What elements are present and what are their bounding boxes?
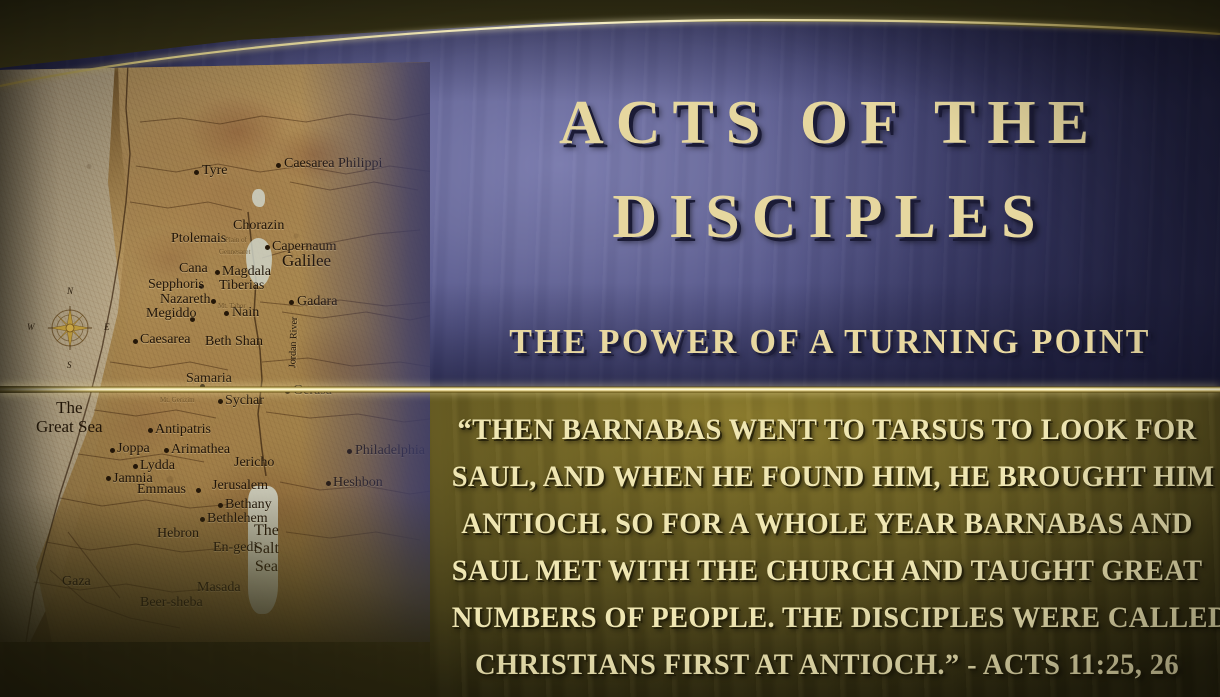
- map-city-dot: [276, 163, 281, 168]
- map-city-label: Tyre: [202, 163, 227, 179]
- map-region-label: Galilee: [282, 251, 331, 271]
- map-city-label: Antipatris: [155, 422, 211, 438]
- map-city-dot: [148, 428, 153, 433]
- map-city-label: Cana: [179, 261, 208, 277]
- map-sea-label: The Great Sea: [36, 398, 103, 436]
- compass-south-label: S: [67, 360, 72, 370]
- map-city-label: Beer-sheba: [140, 595, 203, 611]
- compass-west-label: W: [27, 322, 35, 332]
- map-city-dot: [200, 517, 205, 522]
- map-city-label: Ptolemais: [171, 231, 226, 247]
- map-region-label: Mt. Gerizim: [160, 396, 195, 404]
- holy-land-map: N S W E TyreCaesarea PhilippiChorazinPto…: [0, 62, 430, 697]
- map-city-label: En-gedi: [213, 540, 257, 556]
- map-lake-huleh: [252, 189, 265, 207]
- map-city-dot: [289, 300, 294, 305]
- map-city-dot: [218, 503, 223, 508]
- map-city-dot: [194, 170, 199, 175]
- map-city-label: Beth Shan: [205, 334, 263, 350]
- compass-east-label: E: [104, 322, 110, 332]
- map-city-dot: [133, 464, 138, 469]
- map-city-label: Sepphoris: [148, 277, 204, 293]
- map-city-label: Sychar: [225, 393, 264, 409]
- quote-line: SAUL, AND WHEN HE FOUND HIM, HE BROUGHT …: [452, 453, 1203, 500]
- map-city-dot: [106, 476, 111, 481]
- quote-line: SAUL MET WITH THE CHURCH AND TAUGHT GREA…: [452, 547, 1203, 594]
- map-city-dot: [133, 339, 138, 344]
- map-city-label: Caesarea Philippi: [284, 156, 382, 172]
- map-city-dot: [196, 488, 201, 493]
- map-city-label: Caesarea: [140, 332, 191, 348]
- title-line-1: ACTS OF THE: [440, 92, 1220, 154]
- gold-divider-left-shadow: [0, 386, 90, 393]
- quote-line: NUMBERS OF PEOPLE. THE DISCIPLES WERE CA…: [452, 594, 1203, 641]
- map-city-label: Philadelphia: [355, 443, 425, 459]
- map-city-dot: [347, 449, 352, 454]
- map-region-label: Plain of: [225, 236, 247, 244]
- title-block: ACTS OF THE DISCIPLES: [440, 92, 1220, 248]
- map-city-dot: [211, 299, 216, 304]
- map-region-label: Mt. Tabor: [218, 302, 246, 310]
- map-city-dot: [326, 481, 331, 486]
- quote-line: “THEN BARNABAS WENT TO TARSUS TO LOOK FO…: [452, 406, 1203, 453]
- map-city-label: Heshbon: [333, 475, 383, 491]
- map-city-label: Jericho: [234, 455, 274, 471]
- map-city-label: Hebron: [157, 526, 199, 542]
- map-city-label: Gaza: [62, 574, 91, 590]
- map-region-label: Gennesaret: [219, 248, 250, 256]
- map-city-dot: [218, 399, 223, 404]
- map-city-dot: [215, 270, 220, 275]
- map-city-label: Joppa: [117, 441, 150, 457]
- compass-rose: N S W E: [42, 300, 98, 356]
- compass-north-label: N: [67, 286, 73, 296]
- map-city-label: Gadara: [297, 294, 337, 310]
- map-city-dot: [164, 448, 169, 453]
- map-city-dot: [224, 311, 229, 316]
- map-city-label: Emmaus: [137, 482, 186, 498]
- title-line-2: DISCIPLES: [440, 186, 1220, 248]
- map-city-dot: [265, 245, 270, 250]
- map-sea-label: The Salt Sea: [254, 522, 279, 576]
- slide-canvas: N S W E TyreCaesarea PhilippiChorazinPto…: [0, 0, 1220, 697]
- map-city-label: Jerusalem: [212, 478, 268, 494]
- subtitle: THE POWER OF A TURNING POINT: [452, 322, 1209, 362]
- quote-line: CHRISTIANS FIRST AT ANTIOCH.” - ACTS 11:…: [452, 641, 1203, 688]
- scripture-quote: “THEN BARNABAS WENT TO TARSUS TO LOOK FO…: [452, 406, 1203, 688]
- quote-line: ANTIOCH. SO FOR A WHOLE YEAR BARNABAS AN…: [452, 500, 1203, 547]
- map-city-label: Tiberias: [219, 278, 264, 294]
- map-city-label: Samaria: [186, 371, 232, 387]
- map-city-label: Chorazin: [233, 218, 284, 234]
- map-city-label: Masada: [197, 580, 241, 596]
- map-city-label: Megiddo: [146, 306, 197, 322]
- gold-divider-line: [0, 386, 1220, 393]
- map-region-label: Jordan River: [287, 317, 300, 369]
- map-city-label: Arimathea: [171, 442, 230, 458]
- map-city-dot: [110, 448, 115, 453]
